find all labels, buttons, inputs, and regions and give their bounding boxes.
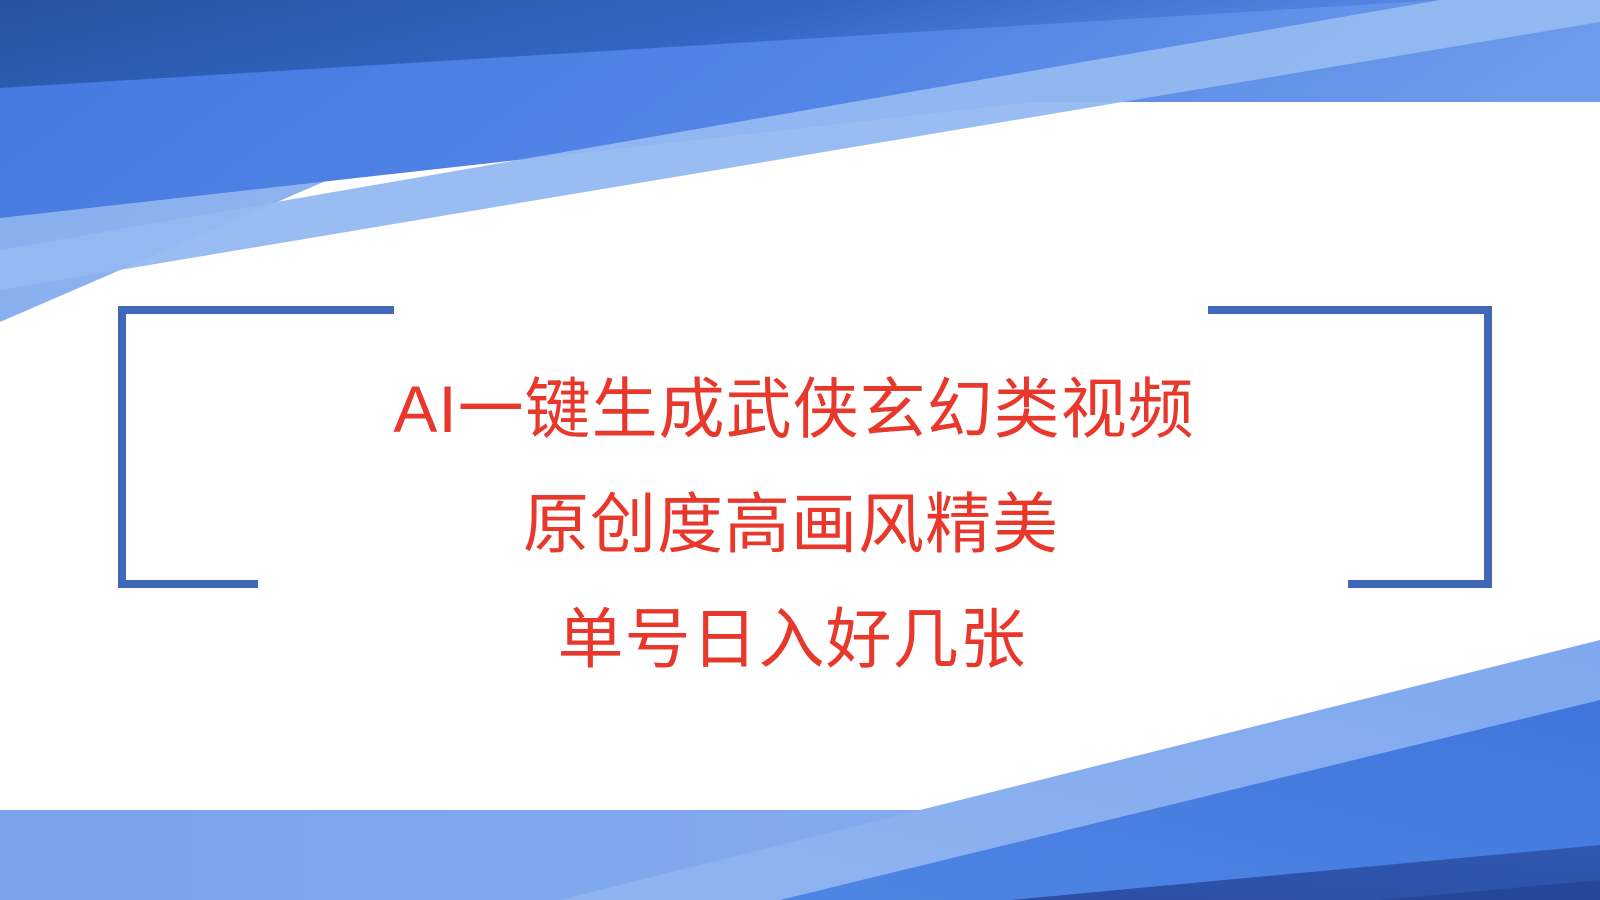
frame-bracket-right [1200,306,1492,588]
frame-bracket-left [112,306,398,588]
poster-canvas: AI一键生成武侠玄幻类视频 原创度高画风精美 单号日入好几张 [0,0,1600,900]
